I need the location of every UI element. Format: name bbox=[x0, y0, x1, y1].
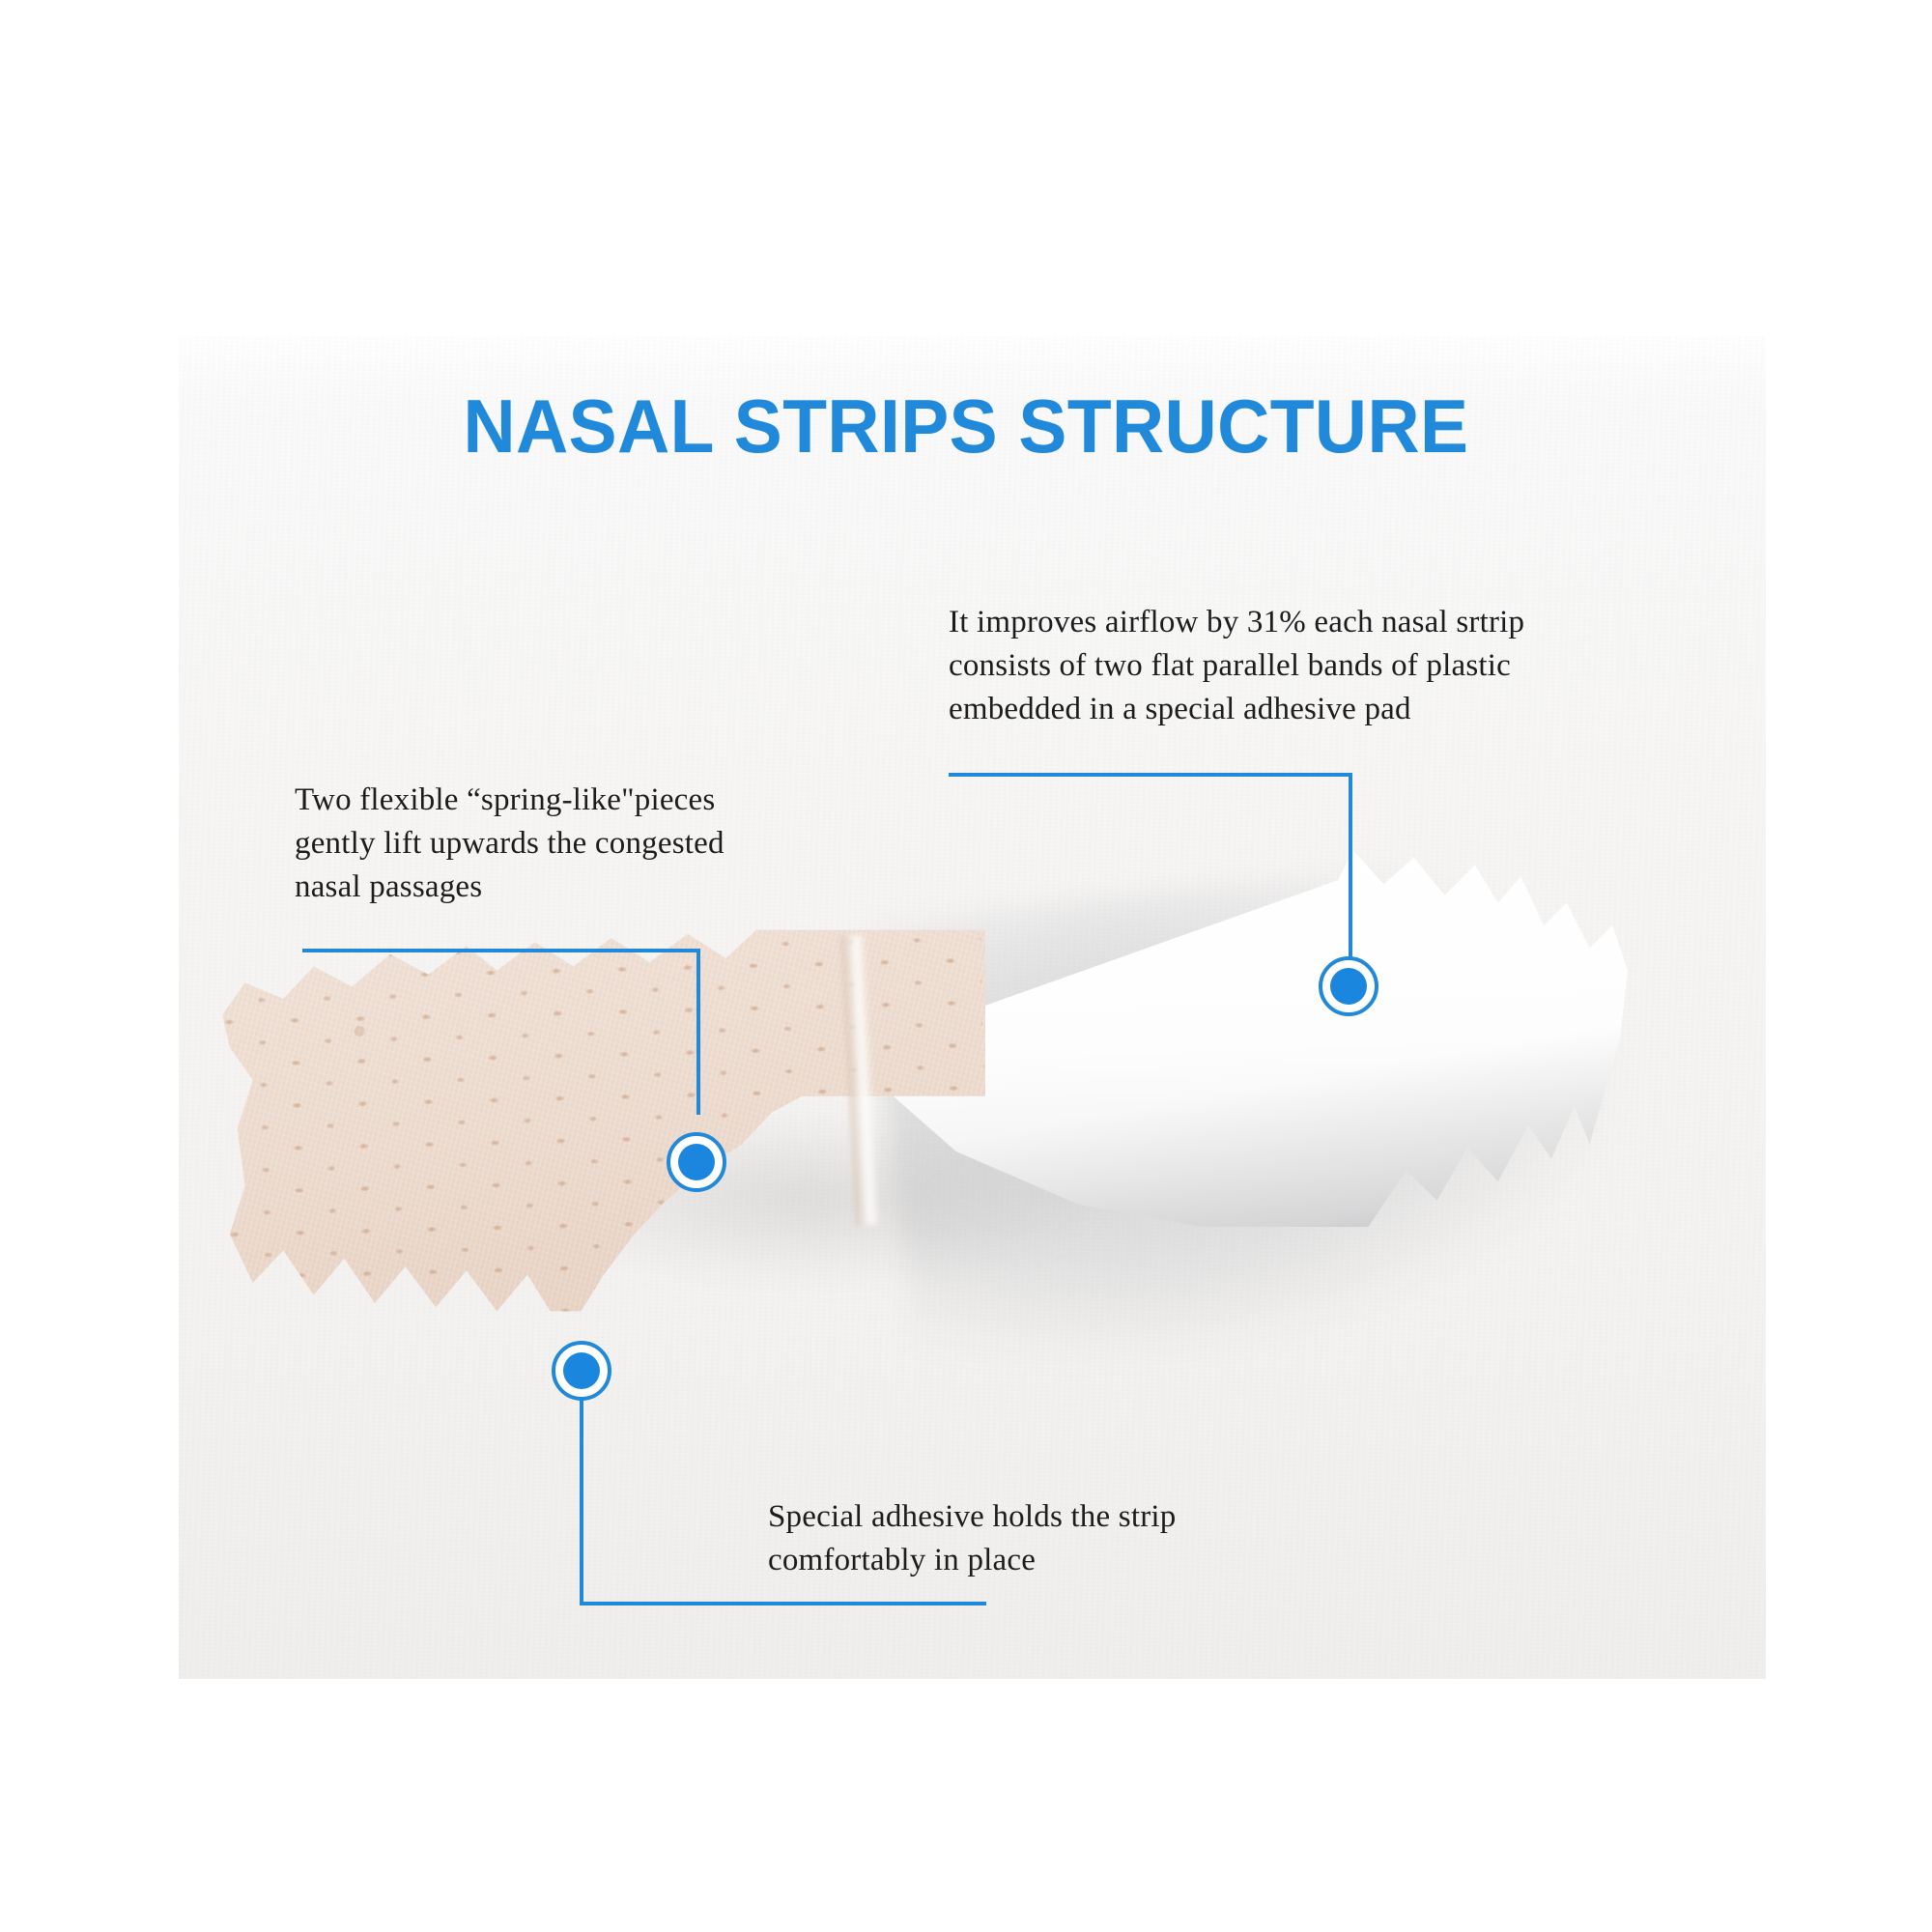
leader-vertical-segment bbox=[580, 1372, 583, 1605]
marker-airflow-dot[interactable] bbox=[1319, 956, 1378, 1016]
leader-vertical-segment bbox=[696, 949, 700, 1115]
callout-adhesive-text: Special adhesive holds the strip comfort… bbox=[768, 1495, 1348, 1582]
leader-vertical-segment bbox=[1349, 773, 1352, 978]
page-title: NASAL STRIPS STRUCTURE bbox=[39, 383, 1893, 470]
nasal-strip-photo bbox=[222, 821, 1652, 1439]
infographic-canvas: NASAL STRIPS STRUCTURE It improves airfl… bbox=[0, 0, 1932, 1932]
leader-horizontal-segment bbox=[949, 773, 1352, 777]
callout-airflow-text: It improves airflow by 31% each nasal sr… bbox=[949, 601, 1683, 731]
leader-horizontal-segment bbox=[580, 1602, 986, 1605]
leader-horizontal-segment bbox=[302, 949, 700, 952]
marker-spring-dot[interactable] bbox=[667, 1132, 726, 1192]
callout-spring-text: Two flexible “spring-like"pieces gently … bbox=[295, 779, 874, 909]
marker-adhesive-dot[interactable] bbox=[552, 1341, 611, 1401]
